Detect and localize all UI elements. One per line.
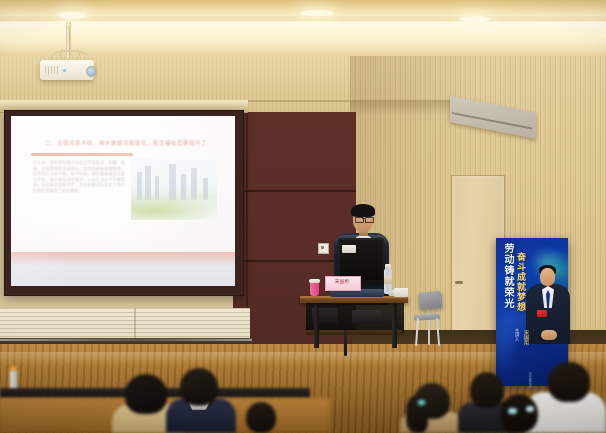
audience-member-head [548, 362, 590, 402]
coffee-cup-lid [309, 279, 320, 283]
desk-leg [392, 300, 397, 348]
audience-member-head [125, 374, 167, 414]
wainscot-seam [134, 308, 136, 340]
baseboard-highlight [0, 339, 252, 341]
audience-member-head [500, 394, 538, 433]
banner-figure-badge [537, 310, 547, 317]
door-handle-icon[interactable] [455, 281, 463, 284]
monitor-badge [342, 245, 356, 253]
banner-date: 2024年4月 [522, 372, 531, 387]
tissue-box [394, 288, 408, 297]
wall-outlet-indicator [321, 246, 324, 249]
wall-panel-seam [233, 190, 356, 192]
ceiling-light-strip [0, 22, 606, 38]
ceiling-downlight [58, 12, 86, 19]
banner-speaker-name: 宋国用 [519, 330, 528, 345]
coffee-cup [310, 281, 319, 296]
water-bottle-cap [385, 264, 391, 269]
glasses-icon [365, 217, 374, 223]
banner-slogan-gold: 奋斗成就梦想 [515, 252, 526, 312]
banner-figure-hands [541, 330, 557, 340]
desk-lower-shelf [306, 330, 402, 335]
ceiling-beam [0, 16, 606, 21]
hair-clip-icon [418, 400, 425, 405]
audience-water-bottle-cap [11, 366, 16, 371]
projector-led-icon [63, 69, 66, 72]
hair-clip-icon [508, 408, 517, 414]
ceiling-downlight [460, 16, 490, 22]
banner-slogan-white: 劳动铸就荣光 [501, 243, 513, 309]
projector-lens-icon [86, 66, 97, 77]
wainscot-lines [0, 308, 250, 340]
lecture-hall-photo: 二、发展成果丰硕，城乡面貌深刻变化，民生福祉显著提升了 近年来，我市坚持稳中求进… [0, 0, 606, 433]
side-chair-back[interactable] [418, 291, 442, 310]
desk-nameplate-text: 宋国用 [325, 279, 359, 285]
audience-member-head [470, 372, 504, 408]
desk-cable [344, 330, 347, 356]
glasses-bridge-icon [362, 218, 365, 219]
desk-equipment [352, 310, 382, 324]
ceiling-downlight [300, 10, 334, 16]
projector-vent-icon [45, 66, 59, 74]
audience-member-head [180, 368, 218, 406]
projection-screen-sheen [11, 116, 235, 286]
water-bottle-label [384, 276, 392, 284]
hair-clip-icon [526, 406, 534, 412]
banner-figure-head [540, 268, 555, 286]
audience-member-head [246, 402, 276, 433]
presenter-hair [351, 204, 375, 217]
desk-leg [314, 300, 319, 348]
